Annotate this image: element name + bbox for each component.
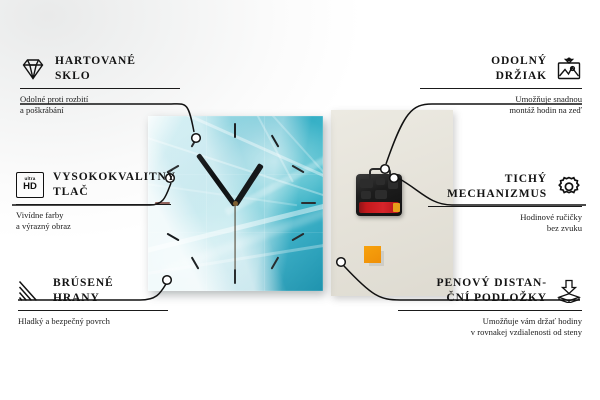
divider [428,206,582,207]
feature-description: Vivídne farby a výrazný obraz [16,210,171,232]
gear-icon [556,175,582,199]
divider [398,310,582,311]
product-photo [148,108,453,298]
feature-description: Odolné proti rozbití a poškrábání [20,94,180,116]
feature-title: VYSOKOKVALITNÝ TLAČ [53,170,176,199]
battery-terminal [393,203,400,212]
wall-hanger-icon [556,57,582,81]
feature-high-quality-print: ultra HD VYSOKOKVALITNÝ TLAČ Vivídne far… [16,170,171,232]
glass-reflection [148,116,323,291]
feature-foam-spacers: PENOVÝ DISTAN- ČNÍ PODLOŽKY Umožňuje vám… [398,276,582,338]
feature-title: PENOVÝ DISTAN- ČNÍ PODLOŽKY [437,276,547,305]
clock-face [148,116,323,291]
feature-title: BRÚSENÉ HRANY [53,276,114,305]
feature-silent-mechanism: TICHÝ MECHANIZMUS Hodinové ručičky bez z… [428,172,582,234]
diamond-icon [20,57,46,81]
feature-description: Umožňuje vám držať hodiny v rovnakej vzd… [398,316,582,338]
feature-beveled-edges: BRÚSENÉ HRANY Hladký a bezpečný povrch [18,276,168,327]
feature-description: Umožňuje snadnou montáž hodin na zeď [420,94,582,116]
feature-tempered-glass: HARTOVANÉ SKLO Odolné proti rozbití a po… [20,54,180,116]
clock-mechanism [356,174,402,216]
feature-description: Hodinové ručičky bez zvuku [428,212,582,234]
feature-durable-hanger: ODOLNÝ DRŽIAK Umožňuje snadnou montáž ho… [420,54,582,116]
feature-description: Hladký a bezpečný povrch [18,316,168,327]
divider [16,204,171,205]
feature-title: TICHÝ MECHANIZMUS [447,172,547,201]
feature-title: HARTOVANÉ SKLO [55,54,136,83]
infographic-canvas: HARTOVANÉ SKLO Odolné proti rozbití a po… [0,0,600,400]
feature-title: ODOLNÝ DRŽIAK [491,54,547,83]
foam-pad-icon [556,279,582,303]
foam-spacer-pad [364,246,381,263]
beveled-edge-icon [18,279,44,303]
divider [420,88,582,89]
divider [18,310,168,311]
divider [20,88,180,89]
ultra-hd-icon: ultra HD [16,172,44,198]
